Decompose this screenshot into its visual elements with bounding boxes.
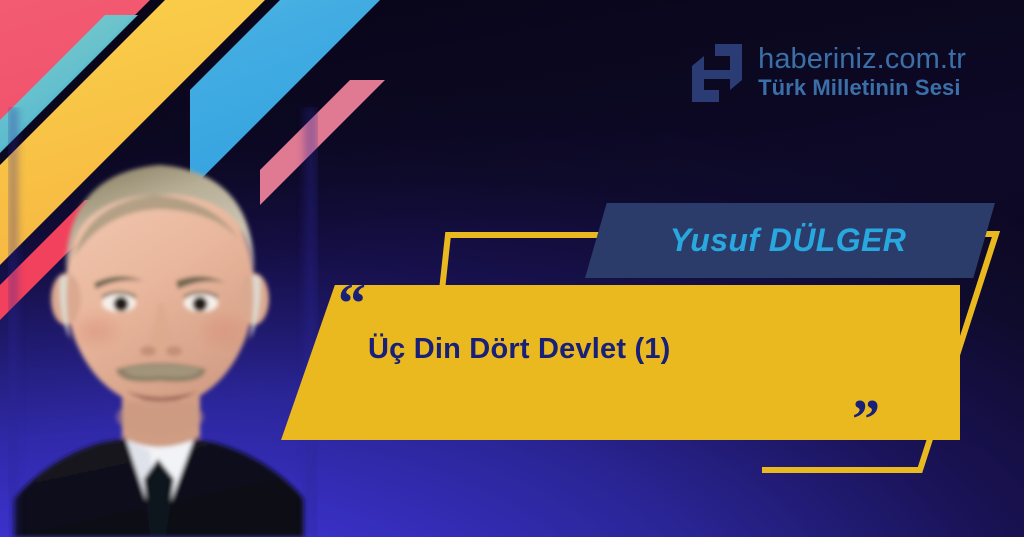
quote-open-icon: “ — [338, 276, 365, 332]
article-share-card: “ Üç Din Dört Devlet (1) ” Yusuf DÜLGER … — [0, 0, 1024, 537]
haberiniz-h-logo-icon — [692, 44, 742, 102]
author-name-banner: Yusuf DÜLGER — [585, 203, 995, 278]
brand-text: haberiniz.com.tr Türk Milletinin Sesi — [758, 44, 966, 102]
brand-block[interactable]: haberiniz.com.tr Türk Milletinin Sesi — [692, 44, 966, 102]
article-title: Üç Din Dört Devlet (1) — [368, 333, 888, 366]
site-tagline: Türk Milletinin Sesi — [758, 74, 966, 102]
site-name: haberiniz.com.tr — [758, 44, 966, 74]
quote-close-icon: ” — [852, 392, 879, 448]
author-portrait — [8, 107, 318, 537]
author-name: Yusuf DÜLGER — [670, 222, 907, 259]
